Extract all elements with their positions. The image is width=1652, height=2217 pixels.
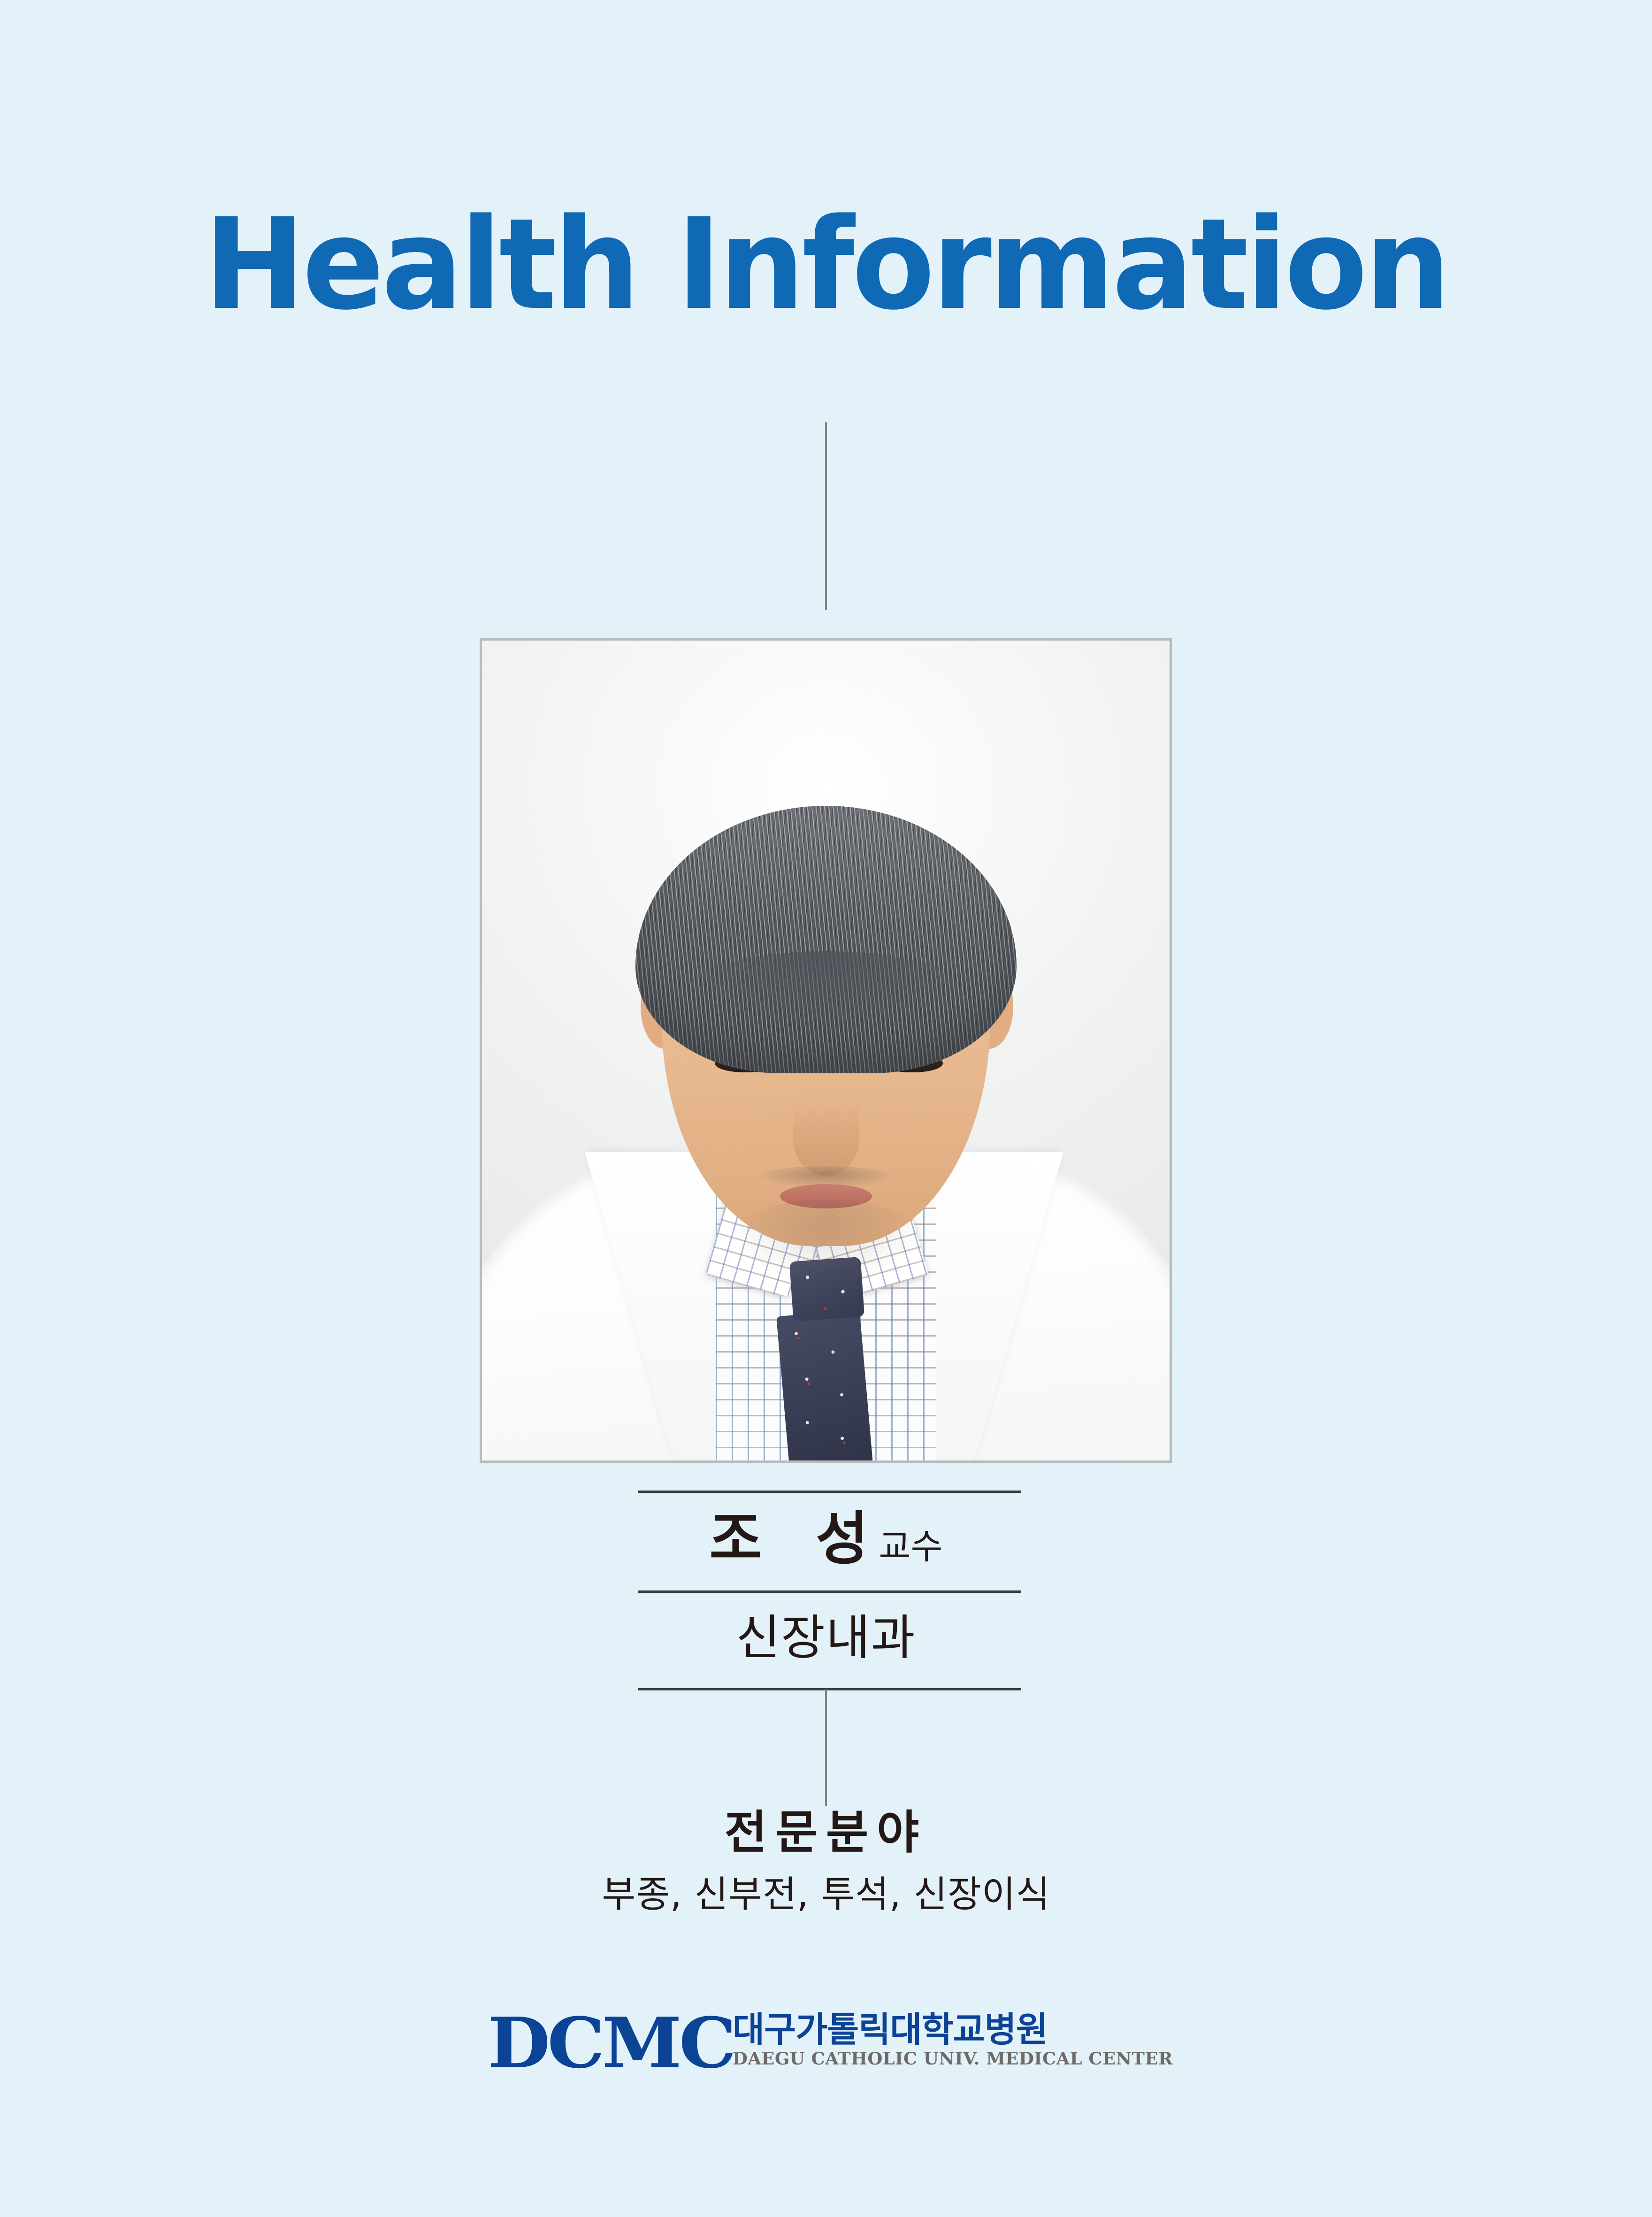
divider-below-name bbox=[638, 1590, 1021, 1593]
title-photo-connector-line bbox=[825, 422, 827, 610]
specialty-items: 부종, 신부전, 투석, 신장이식 bbox=[602, 1873, 1050, 1916]
chin-shadow bbox=[727, 1199, 925, 1284]
doctor-name-row: 조 성교수 bbox=[0, 1510, 1652, 1567]
page-title-text: Health Information bbox=[33, 202, 1619, 328]
doctor-department: 신장내과 bbox=[736, 1610, 916, 1666]
doctor-department-row: 신장내과 bbox=[0, 1614, 1652, 1662]
divider-below-department bbox=[638, 1688, 1021, 1690]
hospital-name-korean: 대구가톨릭대학교병원 bbox=[733, 2012, 1048, 2048]
specialty-items-row: 부종, 신부전, 투석, 신장이식 bbox=[0, 1876, 1652, 1913]
doctor-photo-frame bbox=[480, 638, 1172, 1463]
hospital-logo-wordmark: 대구가톨릭대학교병원 DAEGU CATHOLIC UNIV. MEDICAL … bbox=[733, 2010, 1164, 2067]
dcmc-logo-mark: DCMC bbox=[488, 2010, 734, 2076]
health-information-poster: Health Information bbox=[0, 0, 1652, 2217]
specialty-heading: 전문분야 bbox=[725, 1806, 928, 1859]
nose bbox=[793, 1101, 859, 1176]
department-specialty-connector-line bbox=[825, 1690, 827, 1806]
hospital-logo: DCMC 대구가톨릭대학교병원 DAEGU CATHOLIC UNIV. MED… bbox=[0, 2010, 1652, 2076]
specialty-heading-row: 전문분야 bbox=[0, 1810, 1652, 1856]
doctor-name: 조 성 bbox=[709, 1506, 885, 1572]
necktie-body bbox=[776, 1309, 872, 1463]
doctor-title-suffix: 교수 bbox=[879, 1527, 942, 1567]
doctor-portrait-image bbox=[482, 641, 1170, 1460]
hospital-name-english: DAEGU CATHOLIC UNIV. MEDICAL CENTER bbox=[733, 2050, 1173, 2067]
divider-above-name bbox=[638, 1491, 1021, 1493]
page-title: Health Information bbox=[0, 202, 1652, 328]
hair bbox=[635, 806, 1017, 1073]
hospital-logo-inner: DCMC 대구가톨릭대학교병원 DAEGU CATHOLIC UNIV. MED… bbox=[488, 2010, 1164, 2076]
